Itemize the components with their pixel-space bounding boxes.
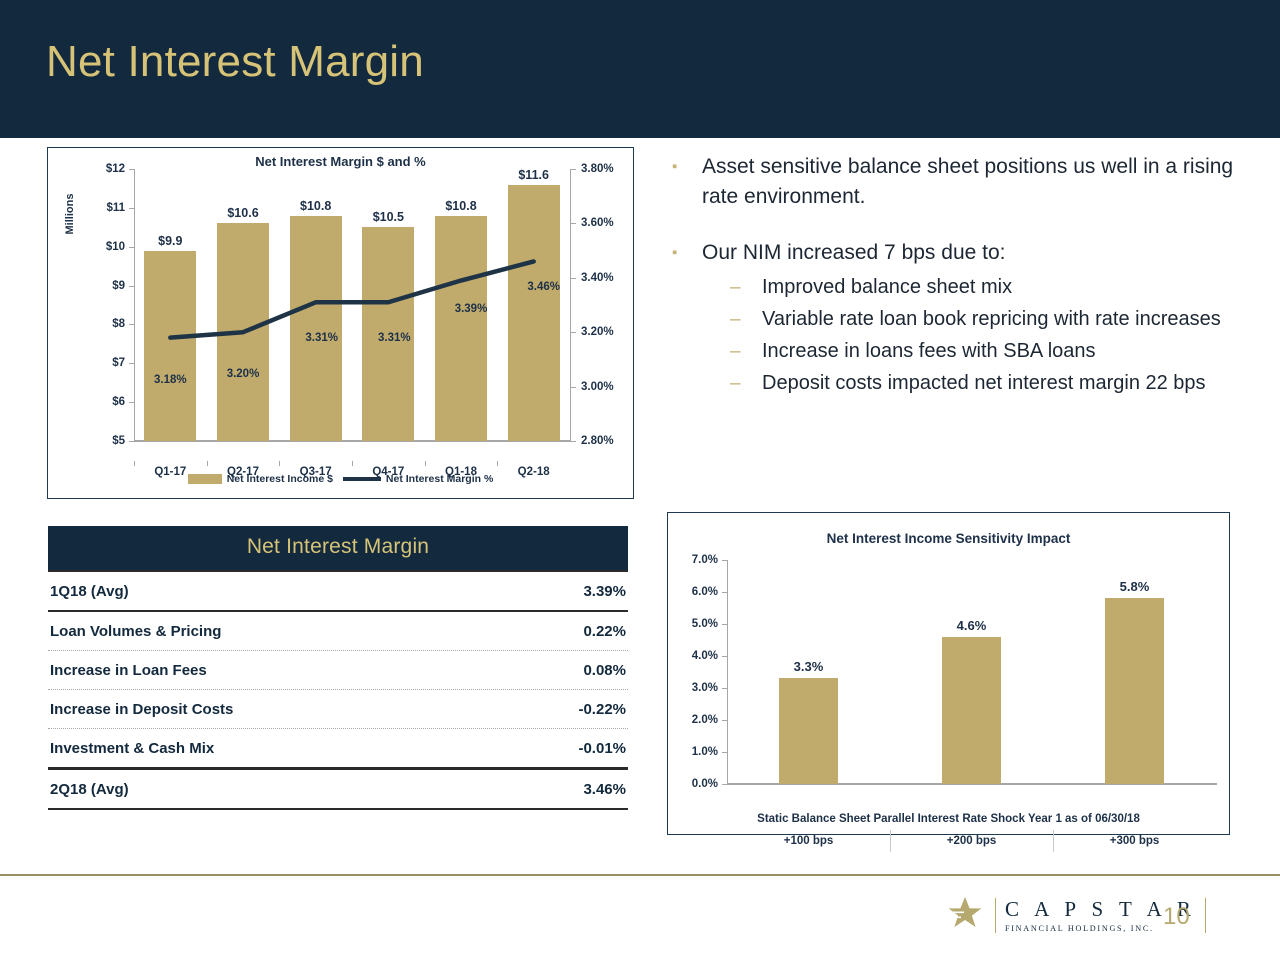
bar-value-label: 4.6%	[957, 618, 987, 633]
margin-line-series	[134, 169, 570, 441]
bullet-text: Our NIM increased 7 bps due to:	[702, 238, 1006, 268]
x-tick-mark	[1053, 830, 1054, 852]
x-tick-mark	[134, 461, 135, 466]
y-axis-tick: $5	[112, 435, 134, 447]
x-tick-mark	[425, 461, 426, 466]
dash-icon: –	[730, 368, 762, 399]
y-axis-tick: 0.0%	[692, 778, 727, 790]
y-axis-tick: $8	[112, 318, 134, 330]
y2-axis-tick: 3.00%	[570, 381, 614, 393]
y-axis-tick: $7	[112, 357, 134, 369]
y2-axis-tick: 3.80%	[570, 163, 614, 175]
table-header: Net Interest Margin	[48, 526, 628, 570]
sub-bullet-text: Improved balance sheet mix	[762, 272, 1012, 303]
y-axis-label: Millions	[64, 179, 76, 249]
bar-swatch-icon	[188, 474, 222, 484]
table-rule	[48, 808, 628, 810]
y-axis-tick: 3.0%	[692, 682, 727, 694]
bar-value-label: 5.8%	[1120, 579, 1150, 594]
x-axis-tick: +200 bps	[947, 835, 997, 847]
bullet-text: Asset sensitive balance sheet positions …	[702, 152, 1267, 212]
sub-bullet-item: – Variable rate loan book repricing with…	[672, 304, 1267, 335]
chart-legend: Net Interest Income $ Net Interest Margi…	[48, 473, 633, 485]
x-tick-mark	[890, 830, 891, 852]
y-axis-tick: $12	[106, 163, 134, 175]
line-value-label: 3.20%	[227, 368, 260, 380]
x-axis-tick: +100 bps	[784, 835, 834, 847]
x-tick-mark	[352, 461, 353, 466]
table-row-label: 2Q18 (Avg)	[50, 781, 129, 798]
table-row-value: 0.08%	[583, 662, 626, 679]
y-axis-tick: 7.0%	[692, 554, 727, 566]
y-axis-tick: $10	[106, 241, 134, 253]
x-axis-tick: +300 bps	[1110, 835, 1160, 847]
plot-area: 0.0%1.0%2.0%3.0%4.0%5.0%6.0%7.0%3.3%+100…	[727, 560, 1216, 784]
chart-title: Net Interest Income Sensitivity Impact	[668, 531, 1229, 546]
bullet-item: ▪ Our NIM increased 7 bps due to:	[672, 238, 1267, 268]
table-row-value: 3.46%	[583, 781, 626, 798]
y2-axis-tick: 3.60%	[570, 217, 614, 229]
table-row: Loan Volumes & Pricing0.22%	[48, 612, 628, 650]
y2-axis-tick: 3.20%	[570, 326, 614, 338]
legend-label-margin: Net Interest Margin %	[386, 473, 493, 485]
x-tick-mark	[279, 461, 280, 466]
sub-bullet-text: Deposit costs impacted net interest marg…	[762, 368, 1206, 399]
y-axis-tick: 4.0%	[692, 650, 727, 662]
dash-icon: –	[730, 336, 762, 367]
table-row-label: Increase in Deposit Costs	[50, 701, 233, 718]
line-swatch-icon	[343, 477, 381, 481]
plot-area: $5$6$7$8$9$10$11$122.80%3.00%3.20%3.40%3…	[134, 169, 570, 441]
table-row-label: Investment & Cash Mix	[50, 740, 214, 757]
line-value-label: 3.39%	[455, 303, 488, 315]
nim-combo-chart: Net Interest Margin $ and % Millions $5$…	[47, 147, 634, 499]
y-axis-tick: $11	[106, 202, 134, 214]
sub-bullet-text: Increase in loans fees with SBA loans	[762, 336, 1096, 367]
y-axis-tick: $9	[112, 280, 134, 292]
sensitivity-chart: Net Interest Income Sensitivity Impact 0…	[667, 512, 1230, 835]
slide-header: Net Interest Margin	[0, 0, 1280, 138]
sub-bullet-text: Variable rate loan book repricing with r…	[762, 304, 1221, 335]
table-row-value: -0.22%	[578, 701, 626, 718]
legend-item-margin: Net Interest Margin %	[343, 473, 493, 485]
table-row-label: Loan Volumes & Pricing	[50, 623, 221, 640]
table-row: Increase in Deposit Costs-0.22%	[48, 690, 628, 728]
dash-icon: –	[730, 272, 762, 303]
y-axis-tick: $6	[112, 396, 134, 408]
sub-bullet-item: – Deposit costs impacted net interest ma…	[672, 368, 1267, 399]
y-axis-tick: 1.0%	[692, 746, 727, 758]
table-row-label: Increase in Loan Fees	[50, 662, 207, 679]
nim-table: Net Interest Margin 1Q18 (Avg)3.39%Loan …	[48, 526, 628, 810]
bar	[942, 637, 1001, 784]
line-value-label: 3.31%	[305, 332, 338, 344]
table-row: Investment & Cash Mix-0.01%	[48, 729, 628, 767]
y2-axis-tick: 2.80%	[570, 435, 614, 447]
table-row-label: 1Q18 (Avg)	[50, 583, 129, 600]
table-row-value: -0.01%	[578, 740, 626, 757]
legend-label-income: Net Interest Income $	[227, 473, 333, 485]
line-value-label: 3.46%	[527, 281, 560, 293]
right-axis-line	[570, 169, 571, 441]
page-number: 10	[1163, 903, 1190, 931]
sub-bullet-item: – Increase in loans fees with SBA loans	[672, 336, 1267, 367]
table-row-value: 3.39%	[583, 583, 626, 600]
bar-value-label: 3.3%	[794, 659, 824, 674]
bar	[779, 678, 838, 784]
x-tick-mark	[207, 461, 208, 466]
bullet-list: ▪ Asset sensitive balance sheet position…	[672, 152, 1267, 400]
table-row: 2Q18 (Avg)3.46%	[48, 770, 628, 808]
table-row-value: 0.22%	[583, 623, 626, 640]
table-body: 1Q18 (Avg)3.39%Loan Volumes & Pricing0.2…	[48, 570, 628, 810]
bar	[1105, 598, 1164, 784]
legend-item-income: Net Interest Income $	[188, 473, 333, 485]
x-tick-mark	[497, 461, 498, 466]
y-axis-tick: 5.0%	[692, 618, 727, 630]
y2-axis-tick: 3.40%	[570, 272, 614, 284]
line-value-label: 3.18%	[154, 374, 187, 386]
page-title: Net Interest Margin	[46, 40, 424, 84]
table-row: Increase in Loan Fees0.08%	[48, 651, 628, 689]
sub-bullet-item: – Improved balance sheet mix	[672, 272, 1267, 303]
dash-icon: –	[730, 304, 762, 335]
bullet-square-icon: ▪	[672, 152, 702, 212]
y-axis-tick: 2.0%	[692, 714, 727, 726]
table-row: 1Q18 (Avg)3.39%	[48, 572, 628, 610]
star-icon	[945, 893, 985, 938]
bullet-spacer	[672, 216, 1267, 238]
footer-divider	[0, 874, 1280, 876]
bullet-item: ▪ Asset sensitive balance sheet position…	[672, 152, 1267, 212]
line-value-label: 3.31%	[378, 332, 411, 344]
bullet-square-icon: ▪	[672, 238, 702, 268]
chart-footnote: Static Balance Sheet Parallel Interest R…	[668, 813, 1229, 825]
y-axis-tick: 6.0%	[692, 586, 727, 598]
